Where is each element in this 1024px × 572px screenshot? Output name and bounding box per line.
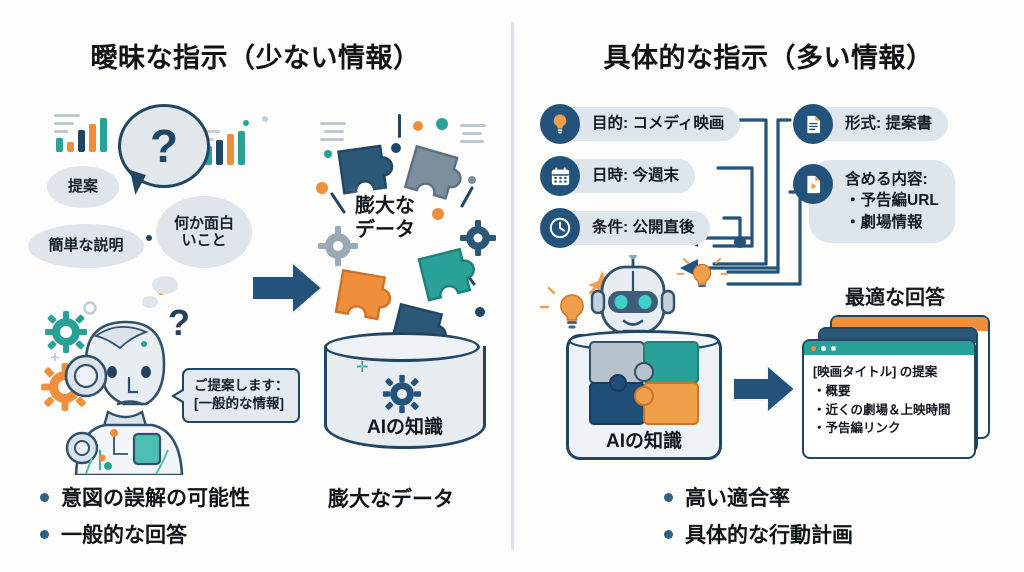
bullet-item: 具体的な行動計画 xyxy=(664,519,853,549)
database-label: AIの知識 xyxy=(324,412,486,439)
bullet-dot xyxy=(664,493,673,502)
bullet-text: 具体的な行動計画 xyxy=(685,519,853,549)
window-dot-orange xyxy=(811,346,816,351)
bullet-dot xyxy=(40,493,49,502)
window-dot-white xyxy=(821,346,826,351)
right-bullet-list: 高い適合率 具体的な行動計画 xyxy=(664,482,853,556)
clock-icon xyxy=(540,208,580,248)
video-file-icon xyxy=(793,164,833,204)
left-panel-title: 曖昧な指示（少ない情報） xyxy=(0,36,511,75)
window-titlebar xyxy=(804,341,974,355)
result-title: 最適な回答 xyxy=(795,281,995,310)
panel-divider xyxy=(511,22,514,550)
robot-speech-text: ご提案します： [一般的な情報] xyxy=(194,378,289,411)
thought-bubble-simple-explanation: 簡単な説明 xyxy=(28,224,144,268)
right-panel-title: 具体的な指示（多い情報） xyxy=(513,36,1024,75)
question-mark-glyph: ? xyxy=(150,119,178,173)
info-card-purpose[interactable]: 目的: コメディ映画 xyxy=(540,104,740,144)
result-line: ・近くの劇場＆上映時間 xyxy=(813,401,966,420)
window-dot-white xyxy=(831,346,836,351)
info-card-text: 目的: コメディ映画 xyxy=(556,107,740,141)
huge-data-side-label: 膨大なデータ xyxy=(328,483,454,513)
huge-data-cloud-label: 膨大な データ xyxy=(330,194,440,242)
speech-tail-inner xyxy=(175,390,185,402)
result-line: ・予告編リンク xyxy=(813,419,966,438)
thought-bubble-text: 提案 xyxy=(68,178,98,195)
calendar-icon xyxy=(540,156,580,196)
bullet-text: 高い適合率 xyxy=(685,482,790,512)
result-window-front[interactable]: [映画タイトル] の提案 ・概要 ・近くの劇場＆上映時間 ・予告編リンク xyxy=(802,339,976,459)
result-line: ・概要 xyxy=(813,382,966,401)
info-card-text: 含める内容: ・予告編URL ・劇場情報 xyxy=(809,160,955,243)
speech-bubble-tail xyxy=(123,170,146,196)
database-label: AIの知識 xyxy=(566,426,722,453)
bullet-text: 一般的な回答 xyxy=(61,519,187,549)
infographic-canvas: 曖昧な指示（少ない情報） 具体的な指示（多い情報） ? 提案 何か面 xyxy=(0,0,1024,572)
result-window-stack: [映画タイトル] の提案 ・概要 ・近くの劇場＆上映時間 ・予告編リンク xyxy=(800,315,990,460)
window-content: [映画タイトル] の提案 ・概要 ・近くの劇場＆上映時間 ・予告編リンク xyxy=(804,355,974,444)
bar-chart-icon xyxy=(52,108,110,156)
thought-bubble-something-fun: 何か面白 いこと xyxy=(156,196,252,268)
info-card-condition[interactable]: 条件: 公開直後 xyxy=(540,208,710,248)
ai-knowledge-container: AIの知識 xyxy=(566,330,726,465)
result-heading: [映画タイトル] の提案 xyxy=(813,363,966,382)
gear-icon xyxy=(382,374,422,414)
left-bullet-list: 意図の誤解の可能性 一般的な回答 xyxy=(40,482,250,556)
thought-bubble-small xyxy=(152,276,178,294)
info-card-format[interactable]: 形式: 提案書 xyxy=(793,104,948,144)
bullet-item: 高い適合率 xyxy=(664,482,853,512)
right-arrow-icon xyxy=(733,362,797,416)
decor-dot xyxy=(146,235,152,241)
info-card-include[interactable]: 含める内容: ・予告編URL ・劇場情報 xyxy=(793,160,955,243)
bullet-item: 意図の誤解の可能性 xyxy=(40,482,250,512)
bullet-dot xyxy=(664,530,673,539)
bullet-item: 一般的な回答 xyxy=(40,519,250,549)
info-card-datetime[interactable]: 日時: 今週末 xyxy=(540,156,695,196)
ai-knowledge-database: ✛ AIの知識 xyxy=(324,330,484,462)
decor-dot xyxy=(262,116,268,122)
four-piece-puzzle-icon xyxy=(588,340,700,426)
db-top-ellipse xyxy=(324,332,480,362)
sparkle-icon: ✛ xyxy=(356,358,369,376)
thought-bubble-proposal: 提案 xyxy=(47,166,119,208)
bullet-text: 意図の誤解の可能性 xyxy=(61,482,250,512)
lightbulb-icon xyxy=(540,104,580,144)
robot-speech-box: ご提案します： [一般的な情報] xyxy=(182,368,300,423)
robot-question-mark: ? xyxy=(168,302,190,344)
thought-bubble-text: 簡単な説明 xyxy=(48,237,123,254)
document-icon xyxy=(793,104,833,144)
thought-bubble-text: 何か面白 いこと xyxy=(174,215,234,250)
bullet-dot xyxy=(40,530,49,539)
